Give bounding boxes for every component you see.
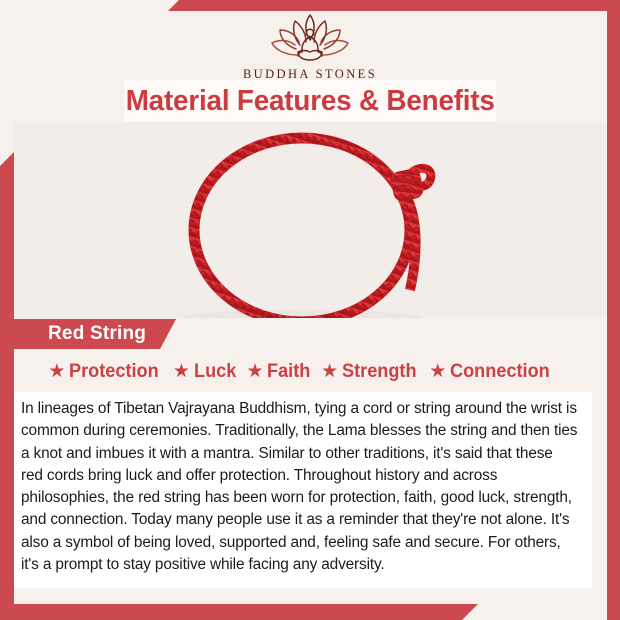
page-title: Material Features & Benefits [125, 85, 494, 118]
frame-left-bar [0, 152, 14, 604]
star-icon: ★ [321, 362, 338, 381]
star-icon: ★ [48, 362, 65, 381]
benefit-item-protection: ★ Protection [48, 360, 165, 383]
material-features-infographic: BUDDHA STONES Material Features & Benefi… [0, 0, 620, 620]
description-text: In lineages of Tibetan Vajrayana Buddhis… [21, 398, 578, 576]
star-icon: ★ [429, 362, 446, 381]
benefit-item-strength: ★ Strength [321, 360, 422, 383]
page-title-band: Material Features & Benefits [124, 80, 496, 122]
brand-block: BUDDHA STONES [0, 12, 620, 82]
star-icon: ★ [246, 362, 263, 381]
benefit-item-faith: ★ Faith [246, 360, 314, 383]
red-string-bracelet-image [14, 122, 606, 318]
product-image-area [14, 122, 606, 318]
benefit-label: Luck [194, 360, 236, 383]
description-panel: In lineages of Tibetan Vajrayana Buddhis… [14, 392, 592, 588]
frame-bottom-bar [0, 604, 478, 620]
benefit-label: Protection [69, 360, 159, 383]
product-name-ribbon: Red String [14, 319, 176, 349]
benefit-label: Faith [267, 360, 310, 383]
frame-top-bar [168, 0, 620, 11]
product-name-label: Red String [48, 323, 146, 345]
benefit-label: Connection [450, 360, 550, 383]
benefit-item-connection: ★ Connection [429, 360, 557, 383]
frame-right-bar [607, 11, 620, 620]
benefit-label: Strength [342, 360, 417, 383]
lotus-meditation-icon [267, 12, 353, 64]
benefit-item-luck: ★ Luck [173, 360, 240, 383]
star-icon: ★ [173, 362, 190, 381]
benefits-list: ★ Protection ★ Luck ★ Faith ★ Strength ★… [14, 360, 592, 383]
